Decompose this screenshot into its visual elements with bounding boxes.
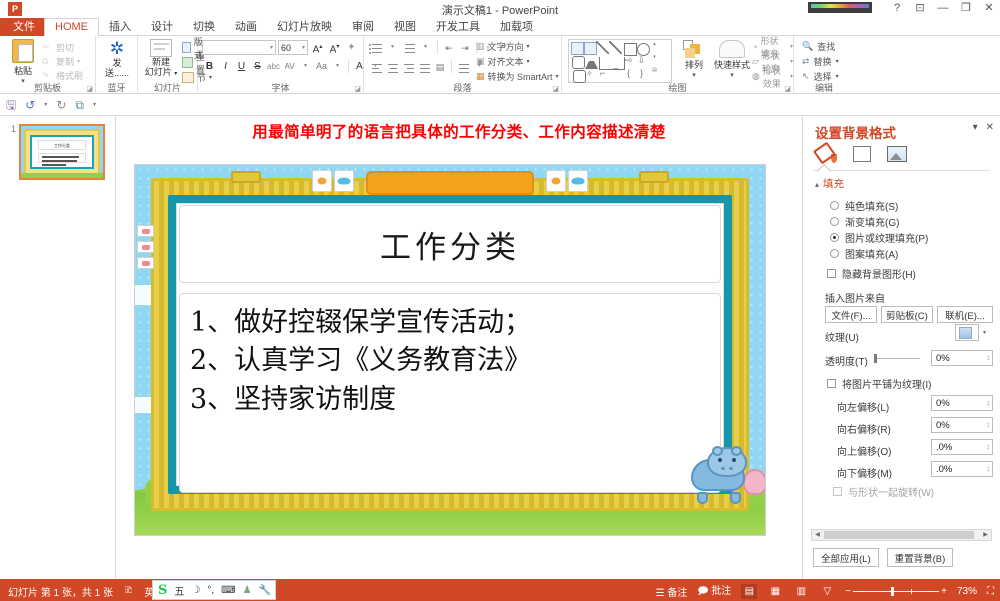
shapes-grid: ▴ ⇨ ⇩ ▾ ✧ ⌐ ⌒ { } ▤ xyxy=(570,41,670,80)
ribbon-group-slides: 新建 幻灯片 ▾ 版式 ▾ 重置 节 ▾ xyxy=(138,36,198,94)
option-label-hide-bg-graphics: 隐藏背景图形(H) xyxy=(842,266,916,281)
shapes-scroll-up[interactable]: ▴ xyxy=(648,41,661,54)
title-bar: P 演示文稿1 - PowerPoint ? ⊡ — ❐ ✕ 登录 xyxy=(0,0,1000,18)
search-icon: 🔍 xyxy=(802,41,813,52)
paragraph-row-2: ▤ ▾ xyxy=(369,59,487,74)
new-slide-label-1: 新建 xyxy=(142,57,180,67)
tab-animations[interactable]: 动画 xyxy=(225,18,267,36)
paintbrush-icon: ✎ xyxy=(42,70,53,81)
chevron-down-icon[interactable]: ▾ xyxy=(527,43,530,50)
clear-formatting-icon[interactable]: ✦ xyxy=(344,40,359,55)
red-heading-text[interactable]: 用最简单明了的语言把具体的工作分类、工作内容描述清楚 xyxy=(116,120,802,142)
notes-button[interactable]: ☰ 备注 xyxy=(656,584,688,599)
section-title-fill[interactable]: 填充 xyxy=(815,176,844,191)
replace-icon: ⇄ xyxy=(802,56,810,67)
tab-view[interactable]: 视图 xyxy=(384,18,426,36)
picture-icon[interactable] xyxy=(887,146,907,162)
text-direction-button[interactable]: ▥ 文字方向 ▾ xyxy=(476,39,559,54)
chevron-down-icon[interactable]: ▾ xyxy=(712,71,752,79)
insert-from-file-button[interactable]: 文件(F)... xyxy=(825,306,877,323)
panel-menu-icon[interactable]: ▾ xyxy=(973,122,978,133)
zoom-percentage-label[interactable]: 73% xyxy=(957,586,977,597)
line-shape-icon[interactable] xyxy=(596,41,609,54)
notes-icon: ☰ xyxy=(656,588,665,599)
copy-label: 复制 xyxy=(56,55,74,68)
qat-buttons: 🖫 ↺ ▾ ↻ ⧉ ▾ xyxy=(6,97,96,113)
chevron-down-icon[interactable]: ▾ xyxy=(302,44,305,51)
chevron-down-icon[interactable]: ▾ xyxy=(527,58,530,65)
chevron-down-icon[interactable]: ▾ xyxy=(77,58,80,65)
ime-user-icon[interactable]: ♟ xyxy=(243,585,252,596)
strikethrough-button[interactable]: S xyxy=(250,59,265,74)
thumbnail-body xyxy=(38,153,86,163)
arrange-button[interactable]: 排列 ▾ xyxy=(678,40,710,79)
slide-body-line-3: 3、坚持家访制度 xyxy=(190,381,714,419)
chevron-down-icon[interactable]: ▾ xyxy=(385,40,400,55)
drawing-dialog-launcher[interactable]: ◪ xyxy=(784,85,791,93)
radio-picture-texture-fill[interactable] xyxy=(830,233,839,242)
ribbon-group-paragraph: ▾ ▾ ⇤ ⇥ ↕ ▾ xyxy=(364,36,562,94)
view-slideshow-button[interactable]: ▽ xyxy=(819,584,835,599)
offset-right-input[interactable]: 0% xyxy=(931,417,993,433)
decrease-indent-button[interactable]: ⇤ xyxy=(442,41,456,55)
notes-page-icon[interactable]: 🗈 xyxy=(125,583,132,600)
view-slide-sorter-button[interactable]: ▦ xyxy=(767,584,783,599)
ribbon-group-clipboard: 粘贴 ▾ ✂ 剪切 ⧉ 复制 ▾ ✎ 格式刷 剪贴板 ◪ xyxy=(0,36,96,94)
option-tile-as-texture[interactable]: 将图片平铺为纹理(I) xyxy=(827,376,931,391)
format-background-panel[interactable]: 设置背景格式 ▾ ✕ 填充 纯色填充(S) 渐变填充(G) 图片或纹理填充(P)… xyxy=(802,116,1000,579)
find-label: 查找 xyxy=(817,40,835,53)
align-left-button[interactable] xyxy=(369,60,383,74)
option-label-picture-texture-fill: 图片或纹理填充(P) xyxy=(845,230,928,245)
slide-body-placeholder[interactable]: 1、做好控辍保学宣传活动； 2、认真学习《义务教育法》 3、坚持家访制度 xyxy=(179,293,721,493)
quick-styles-button[interactable]: 快速样式 ▾ xyxy=(712,40,752,79)
option-label-gradient-fill: 渐变填充(G) xyxy=(845,214,899,229)
align-text-button[interactable]: ▣ 对齐文本 ▾ xyxy=(476,54,559,69)
shapes-more[interactable]: ▤ xyxy=(648,67,661,80)
thumbnail-grass xyxy=(21,173,103,178)
zoom-out-button[interactable]: − xyxy=(845,586,851,597)
color-swatch-decoration xyxy=(808,2,872,13)
peg-decoration xyxy=(639,171,669,183)
hippo-illustration-icon xyxy=(689,447,751,499)
align-text-icon: ▣ xyxy=(476,56,485,67)
offset-top-label: 向上偏移(O) xyxy=(837,443,891,458)
thumbnail-inner-frame: 工作分类 xyxy=(30,135,94,169)
zoom-in-button[interactable]: + xyxy=(941,586,947,597)
transparency-slider-handle[interactable] xyxy=(874,354,877,363)
orange-tab-decoration xyxy=(366,171,534,195)
slide-canvas[interactable]: 工作分类 1、做好控辍保学宣传活动； 2、认真学习《义务教育法》 3、坚持家访制… xyxy=(134,164,766,536)
thumbnail-item[interactable]: 1 工作分类 xyxy=(8,124,105,180)
hippo-leg xyxy=(730,492,741,504)
apply-to-all-button[interactable]: 全部应用(L) xyxy=(813,548,879,567)
group-label-slides: 幻灯片 xyxy=(138,81,197,94)
group-label-drawing: 绘图 xyxy=(562,81,793,94)
font-size-combobox[interactable]: 60 ▾ xyxy=(278,40,308,55)
arc-shape-icon[interactable]: ⌒ xyxy=(609,67,622,80)
hippo-ear xyxy=(731,446,742,456)
ribbon-group-bluetooth: ✲ 发 送...... 蓝牙 xyxy=(96,36,138,94)
ime-keyboard-icon[interactable]: ⌨ xyxy=(221,585,235,596)
layout-icon xyxy=(182,42,191,53)
arrow-shape-icon[interactable] xyxy=(609,41,622,54)
editing-commands: 🔍 查找 ⇄ 替换 ▾ ↖ 选择 ▾ xyxy=(802,39,839,84)
new-slide-button[interactable]: 新建 幻灯片 ▾ xyxy=(142,39,180,79)
font-name-combobox[interactable]: ▾ xyxy=(202,40,276,55)
undo-icon[interactable]: ↺ xyxy=(25,97,35,113)
ribbon-tab-bar: 文件 HOME 插入 设计 切换 动画 幻灯片放映 审阅 视图 开发工具 加载项 xyxy=(0,18,1000,36)
insert-picture-from-label: 插入图片来自 xyxy=(825,290,885,305)
ime-punctuation-icon[interactable]: °, xyxy=(207,585,214,596)
text-direction-icon: ▥ xyxy=(476,41,485,52)
insert-from-clipboard-button[interactable]: 剪贴板(C) xyxy=(881,306,933,323)
zoom-thumb[interactable] xyxy=(891,587,894,596)
option-pattern-fill[interactable]: 图案填充(A) xyxy=(830,246,898,261)
shapes-gallery[interactable]: ▴ ⇨ ⇩ ▾ ✧ ⌐ ⌒ { } ▤ xyxy=(568,39,672,83)
transparency-label: 透明度(T) xyxy=(825,353,868,368)
chevron-down-icon[interactable]: ▾ xyxy=(836,73,839,80)
shape-outline-icon: ▱ xyxy=(752,56,759,67)
checkbox-hide-bg-graphics[interactable] xyxy=(827,269,836,278)
copy-icon: ⧉ xyxy=(42,56,53,67)
hippo-eye xyxy=(732,458,736,462)
new-slide-label-2: 幻灯片 ▾ xyxy=(142,67,180,79)
fill-bucket-icon[interactable] xyxy=(815,144,837,164)
hippo-leg xyxy=(697,492,708,504)
status-bar: 幻灯片 第 1 张，共 1 张 🗈 英语(美国) S 五 ☽ °, ⌨ ♟ 🔧 … xyxy=(0,579,1000,601)
ribbon-display-options-icon[interactable]: ⊡ xyxy=(913,1,927,14)
panel-title: 设置背景格式 xyxy=(815,122,896,142)
character-spacing-button[interactable]: AV xyxy=(282,59,297,74)
texture-label: 纹理(U) xyxy=(825,329,859,344)
chevron-down-icon[interactable]: ▾ xyxy=(983,329,986,336)
view-normal-button[interactable]: ▤ xyxy=(741,584,757,599)
group-label-clipboard: 剪贴板 xyxy=(0,81,95,94)
font-size-value: 60 xyxy=(281,43,291,53)
sogou-logo-icon[interactable]: S xyxy=(158,583,167,598)
powerpoint-window: P 演示文稿1 - PowerPoint ? ⊡ — ❐ ✕ 登录 文件 HOM… xyxy=(0,0,1000,601)
columns-button[interactable]: ▤ xyxy=(433,60,447,74)
chevron-down-icon[interactable]: ▾ xyxy=(174,71,177,77)
format-painter-label: 格式刷 xyxy=(56,69,83,82)
peg-decoration xyxy=(231,171,261,183)
text-direction-label: 文字方向 xyxy=(488,40,524,53)
ribbon: 粘贴 ▾ ✂ 剪切 ⧉ 复制 ▾ ✎ 格式刷 剪贴板 ◪ xyxy=(0,36,1000,94)
tab-design[interactable]: 设计 xyxy=(141,18,183,36)
radio-pattern-fill[interactable] xyxy=(830,249,839,258)
font-row-2: B I U S abc AV ▾ Aa ▾ A ▾ xyxy=(202,59,383,74)
text-direction-small-button[interactable] xyxy=(456,60,470,74)
tab-insert[interactable]: 插入 xyxy=(99,18,141,36)
change-case-button[interactable]: Aa xyxy=(314,59,329,74)
notes-label: 备注 xyxy=(667,588,687,599)
chevron-down-icon[interactable]: ▾ xyxy=(790,43,793,50)
ime-mode-icon[interactable]: 五 xyxy=(174,583,184,598)
right-brace-shape-icon[interactable]: } xyxy=(635,67,648,80)
bullets-button[interactable] xyxy=(369,41,383,55)
bluetooth-label-1: 发 xyxy=(100,58,134,68)
minimize-icon[interactable]: — xyxy=(936,2,950,14)
paste-label: 粘贴 xyxy=(6,64,40,77)
help-icon[interactable]: ? xyxy=(890,2,904,14)
tab-home[interactable]: HOME xyxy=(44,18,99,37)
radio-gradient-fill[interactable] xyxy=(830,217,839,226)
transparency-slider-track[interactable] xyxy=(875,358,920,359)
tab-slideshow[interactable]: 幻灯片放映 xyxy=(267,18,342,36)
bold-button[interactable]: B xyxy=(202,59,217,74)
quick-styles-label: 快速样式 xyxy=(712,58,752,71)
underline-button[interactable]: U xyxy=(234,59,249,74)
restore-icon[interactable]: ❐ xyxy=(959,1,973,14)
group-label-editing: 编辑 xyxy=(794,81,854,94)
increase-font-size-button[interactable]: A▴ xyxy=(310,40,325,55)
quick-access-toolbar: 🖫 ↺ ▾ ↻ ⧉ ▾ xyxy=(0,94,1000,116)
zoom-track[interactable] xyxy=(853,591,939,592)
divider xyxy=(437,41,438,54)
star-shape-icon[interactable]: ✧ xyxy=(583,67,596,80)
slide-title-placeholder[interactable]: 工作分类 xyxy=(179,205,721,283)
slide-edit-area[interactable]: 用最简单明了的语言把具体的工作分类、工作内容描述清楚 工作分类 xyxy=(116,116,802,579)
font-row-1: ▾ 60 ▾ A▴ A▾ ✦ xyxy=(202,40,359,55)
present-icon[interactable]: ⧉ xyxy=(75,97,84,113)
option-label-tile-as-texture: 将图片平铺为纹理(I) xyxy=(842,376,931,391)
redo-icon[interactable]: ↻ xyxy=(56,97,66,113)
option-solid-fill[interactable]: 纯色填充(S) xyxy=(830,198,898,213)
chevron-down-icon[interactable]: ▾ xyxy=(298,59,313,74)
hippo-nostril xyxy=(721,467,725,470)
zoom-100-mark xyxy=(911,589,912,594)
align-text-label: 对齐文本 xyxy=(488,55,524,68)
group-label-font: 字体 xyxy=(198,81,363,94)
chevron-down-icon[interactable]: ▾ xyxy=(790,73,793,80)
option-label-solid-fill: 纯色填充(S) xyxy=(845,198,898,213)
ribbon-group-font: ▾ 60 ▾ A▴ A▾ ✦ B I U S abc AV ▾ Aa ▾ xyxy=(198,36,364,94)
view-reading-button[interactable]: ▥ xyxy=(793,584,809,599)
group-label-paragraph: 段落 xyxy=(364,81,561,94)
panel-action-buttons: 全部应用(L) 重置背景(B) xyxy=(813,548,953,567)
ribbon-group-drawing: ▴ ⇨ ⇩ ▾ ✧ ⌐ ⌒ { } ▤ xyxy=(562,36,794,94)
status-right: ☰ 备注 🗩 批注 ▤ ▦ ▥ ▽ − + 73% ⛶ xyxy=(656,582,994,601)
panel-controls: ▾ ✕ xyxy=(973,122,994,133)
increase-indent-button[interactable]: ⇥ xyxy=(458,41,472,55)
reset-icon xyxy=(182,57,193,68)
justify-button[interactable] xyxy=(417,60,431,74)
chevron-down-icon[interactable]: ▾ xyxy=(836,58,839,65)
shape-effects-icon[interactable] xyxy=(853,146,871,162)
shapes-scroll-down[interactable]: ▾ xyxy=(648,54,661,67)
tab-developer[interactable]: 开发工具 xyxy=(426,18,490,36)
thumbnail-canvas: 工作分类 xyxy=(32,137,92,167)
save-icon[interactable]: 🖫 xyxy=(6,97,16,113)
ime-toolbar[interactable]: S 五 ☽ °, ⌨ ♟ 🔧 xyxy=(152,580,276,600)
bluetooth-label-2: 送...... xyxy=(100,68,134,78)
ribbon-group-editing: 🔍 查找 ⇄ 替换 ▾ ↖ 选择 ▾ 编辑 xyxy=(794,36,864,94)
left-brace-shape-icon[interactable]: { xyxy=(622,67,635,80)
hippo-ear xyxy=(712,446,723,456)
checkbox-rotate-with-shape xyxy=(833,487,842,496)
chevron-down-icon[interactable]: ▾ xyxy=(44,97,47,113)
ime-tools-icon[interactable]: 🔧 xyxy=(259,585,271,596)
copy-button[interactable]: ⧉ 复制 ▾ xyxy=(42,54,83,68)
slide-thumbnail-pane[interactable]: 1 工作分类 xyxy=(0,116,116,579)
thumbnail-frame: 工作分类 xyxy=(24,129,100,175)
option-picture-texture-fill[interactable]: 图片或纹理填充(P) xyxy=(830,230,928,245)
slide-thumbnail-1[interactable]: 工作分类 xyxy=(19,124,105,180)
paragraph-commands: ▥ 文字方向 ▾ ▣ 对齐文本 ▾ ▦ 转换为 SmartArt ▾ xyxy=(476,39,559,84)
transparency-value-input[interactable]: 0% xyxy=(931,350,993,366)
font-dialog-launcher[interactable]: ◪ xyxy=(354,85,361,93)
offset-top-input[interactable]: .0% xyxy=(931,439,993,455)
chevron-down-icon[interactable]: ▾ xyxy=(678,71,710,79)
italic-button[interactable]: I xyxy=(218,59,233,74)
new-slide-text: 幻灯片 xyxy=(145,67,172,77)
chevron-down-icon[interactable]: ▾ xyxy=(330,59,345,74)
paragraph-dialog-launcher[interactable]: ◪ xyxy=(552,85,559,93)
flashcard-icon xyxy=(545,170,589,192)
flashcard-icon xyxy=(311,170,355,192)
comments-button[interactable]: 🗩 批注 xyxy=(697,582,731,601)
radio-solid-fill[interactable] xyxy=(830,201,839,210)
chevron-down-icon[interactable]: ▾ xyxy=(790,58,793,65)
scrollbar-thumb[interactable] xyxy=(824,531,974,539)
option-hide-bg-graphics[interactable]: 隐藏背景图形(H) xyxy=(827,266,916,281)
right-arrow-shape-icon[interactable]: ⇨ xyxy=(622,54,635,67)
hippo-nostril xyxy=(729,467,733,470)
slide-body-line-1: 1、做好控辍保学宣传活动； xyxy=(190,304,714,342)
format-painter-button[interactable]: ✎ 格式刷 xyxy=(42,68,83,82)
bluetooth-icon: ✲ xyxy=(100,39,134,58)
cut-label: 剪切 xyxy=(56,41,74,54)
comments-label: 批注 xyxy=(711,586,731,597)
bluetooth-send-button[interactable]: ✲ 发 送...... xyxy=(100,39,134,78)
chevron-down-icon[interactable]: ▾ xyxy=(418,40,433,55)
comment-icon: 🗩 xyxy=(697,586,708,597)
textbox-shape-icon[interactable] xyxy=(571,42,584,55)
offset-right-label: 向右偏移(R) xyxy=(837,421,891,436)
scroll-right-arrow[interactable]: ▶ xyxy=(980,530,991,540)
option-label-rotate-with-shape: 与形状一起旋转(W) xyxy=(848,484,934,499)
insert-from-online-button[interactable]: 联机(E)... xyxy=(937,306,993,323)
option-label-pattern-fill: 图案填充(A) xyxy=(845,246,898,261)
align-right-button[interactable] xyxy=(401,60,415,74)
window-controls: ? ⊡ — ❐ ✕ xyxy=(890,1,996,14)
hippo-head xyxy=(707,447,747,477)
thumbnail-number: 1 xyxy=(8,124,16,180)
tab-addins[interactable]: 加载项 xyxy=(490,18,543,36)
quick-styles-icon xyxy=(719,40,745,58)
slide-body-line-2: 2、认真学习《义务教育法》 xyxy=(190,342,714,380)
ime-moon-icon[interactable]: ☽ xyxy=(191,585,200,596)
decrease-font-size-button[interactable]: A▾ xyxy=(327,40,342,55)
arrange-label: 排列 xyxy=(678,58,710,71)
panel-divider xyxy=(813,170,990,171)
replace-label: 替换 xyxy=(814,55,832,68)
drawing-commands: ◔ 形状填充 ▾ ▱ 形状轮廓 ▾ ◍ 形状效果 ▾ xyxy=(752,39,793,84)
zoom-slider[interactable]: − + xyxy=(845,586,947,597)
divider xyxy=(451,60,452,73)
divider xyxy=(348,60,349,73)
qat-more-icon[interactable]: ▾ xyxy=(93,97,96,113)
panel-horizontal-scrollbar[interactable]: ◀ ▶ xyxy=(811,529,992,541)
paste-button[interactable]: 粘贴 ▾ xyxy=(6,39,40,85)
curve-shape-icon[interactable]: ⌐ xyxy=(596,67,609,80)
arrange-icon xyxy=(683,40,705,58)
option-gradient-fill[interactable]: 渐变填充(G) xyxy=(830,214,899,229)
text-shadow-button[interactable]: abc xyxy=(266,59,281,74)
tab-review[interactable]: 审阅 xyxy=(342,18,384,36)
option-rotate-with-shape: 与形状一起旋转(W) xyxy=(833,484,934,499)
offset-left-label: 向左偏移(L) xyxy=(837,399,889,414)
close-icon[interactable]: ✕ xyxy=(982,1,996,14)
replace-button[interactable]: ⇄ 替换 ▾ xyxy=(802,54,839,69)
chevron-down-icon[interactable]: ▾ xyxy=(556,73,559,80)
new-slide-icon xyxy=(150,39,172,57)
align-center-button[interactable] xyxy=(385,60,399,74)
reset-background-button[interactable]: 重置背景(B) xyxy=(887,548,954,567)
clipboard-commands: ✂ 剪切 ⧉ 复制 ▾ ✎ 格式刷 xyxy=(42,40,83,82)
ribbon-tabs: HOME 插入 设计 切换 动画 幻灯片放映 审阅 视图 开发工具 加载项 xyxy=(44,18,543,36)
slide-count-label: 幻灯片 第 1 张，共 1 张 xyxy=(8,584,113,599)
texture-picker[interactable] xyxy=(955,324,979,341)
find-button[interactable]: 🔍 查找 xyxy=(802,39,839,54)
clipboard-dialog-launcher[interactable]: ◪ xyxy=(86,85,93,93)
paste-icon xyxy=(12,39,34,63)
group-label-bluetooth: 蓝牙 xyxy=(96,81,137,94)
side-card-icons xyxy=(137,225,154,273)
panel-tab-icons xyxy=(815,144,907,164)
offset-bottom-label: 向下偏移(M) xyxy=(837,465,892,480)
tab-transitions[interactable]: 切换 xyxy=(183,18,225,36)
chevron-down-icon[interactable]: ▾ xyxy=(270,44,273,51)
checkbox-tile-as-texture[interactable] xyxy=(827,379,836,388)
scroll-left-arrow[interactable]: ◀ xyxy=(812,530,823,540)
down-arrow-shape-icon[interactable]: ⇩ xyxy=(635,54,648,67)
offset-bottom-input[interactable]: .0% xyxy=(931,461,993,477)
numbering-button[interactable] xyxy=(402,41,416,55)
fit-slide-to-window-icon[interactable]: ⛶ xyxy=(987,586,994,597)
slide-title-text: 工作分类 xyxy=(380,222,520,267)
panel-close-icon[interactable]: ✕ xyxy=(986,122,994,133)
hippo-eye xyxy=(718,458,722,462)
shape-fill-icon: ◔ xyxy=(752,42,757,52)
tab-file[interactable]: 文件 xyxy=(0,18,48,36)
scissors-icon: ✂ xyxy=(42,42,53,53)
thumbnail-title: 工作分类 xyxy=(38,140,86,150)
offset-left-input[interactable]: 0% xyxy=(931,395,993,411)
cut-button[interactable]: ✂ 剪切 xyxy=(42,40,83,54)
